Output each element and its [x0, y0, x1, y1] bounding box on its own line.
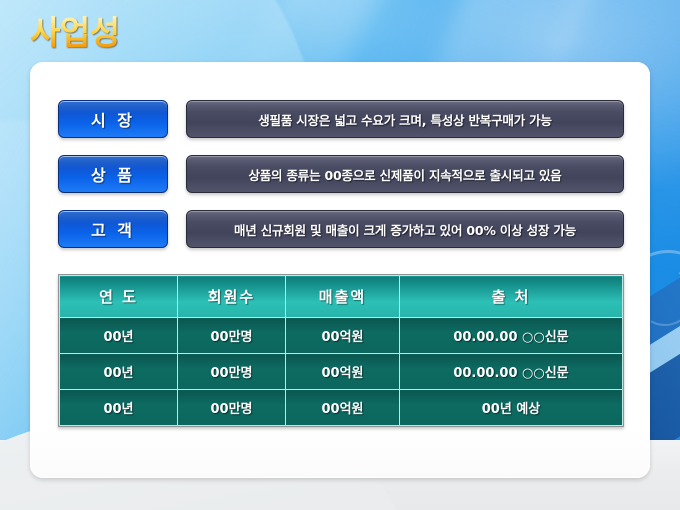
statement-label-text: 상 품: [91, 162, 135, 186]
table-header-revenue: 매출액: [286, 276, 400, 318]
statement-text-content: 상품의 종류는 00종으로 신제품이 지속적으로 출시되고 있음: [248, 165, 561, 184]
table-cell-year: 00년: [60, 354, 178, 390]
table-header-source: 출 처: [400, 276, 623, 318]
statement-text-content: 생필품 시장은 넓고 수요가 크며, 특성상 반복구매가 가능: [258, 110, 552, 129]
table-cell-members: 00만명: [178, 318, 286, 354]
statement-label-product[interactable]: 상 품: [58, 155, 168, 193]
statement-text-content: 매년 신규회원 및 매출이 크게 증가하고 있어 00% 이상 성장 가능: [234, 220, 576, 239]
table-cell-members: 00만명: [178, 390, 286, 426]
table-header: 연 도 회원수 매출액 출 처: [60, 276, 623, 318]
table-cell-members: 00만명: [178, 354, 286, 390]
statement-text-customer[interactable]: 매년 신규회원 및 매출이 크게 증가하고 있어 00% 이상 성장 가능: [186, 210, 624, 248]
table-cell-revenue: 00억원: [286, 390, 400, 426]
table-row: 00년 00만명 00억원 00년 예상: [60, 390, 623, 426]
statement-label-text: 고 객: [91, 217, 135, 241]
statement-row: 시 장 생필품 시장은 넓고 수요가 크며, 특성상 반복구매가 가능: [58, 100, 624, 138]
statement-row: 고 객 매년 신규회원 및 매출이 크게 증가하고 있어 00% 이상 성장 가…: [58, 210, 624, 248]
table-cell-source: 00년 예상: [400, 390, 623, 426]
table-header-year: 연 도: [60, 276, 178, 318]
table-cell-year: 00년: [60, 318, 178, 354]
table-cell-year: 00년: [60, 390, 178, 426]
statement-text-market[interactable]: 생필품 시장은 넓고 수요가 크며, 특성상 반복구매가 가능: [186, 100, 624, 138]
table-row: 00년 00만명 00억원 00.00.00 ○○신문: [60, 318, 623, 354]
slide: 사업성 시 장 생필품 시장은 넓고 수요가 크며, 특성상 반복구매가 가능 …: [0, 0, 680, 510]
page-title: 사업성: [30, 6, 120, 54]
statement-label-customer[interactable]: 고 객: [58, 210, 168, 248]
statement-label-text: 시 장: [91, 107, 135, 131]
table-cell-revenue: 00억원: [286, 354, 400, 390]
table-row: 00년 00만명 00억원 00.00.00 ○○신문: [60, 354, 623, 390]
table-cell-source: 00.00.00 ○○신문: [400, 318, 623, 354]
table-cell-source: 00.00.00 ○○신문: [400, 354, 623, 390]
statement-label-market[interactable]: 시 장: [58, 100, 168, 138]
table-header-row: 연 도 회원수 매출액 출 처: [60, 276, 623, 318]
data-table: 연 도 회원수 매출액 출 처 00년 00만명 00억원 00.00.00 ○…: [59, 275, 623, 426]
statement-text-product[interactable]: 상품의 종류는 00종으로 신제품이 지속적으로 출시되고 있음: [186, 155, 624, 193]
table-header-members: 회원수: [178, 276, 286, 318]
content-panel: 시 장 생필품 시장은 넓고 수요가 크며, 특성상 반복구매가 가능 상 품 …: [30, 62, 650, 478]
data-table-wrapper: 연 도 회원수 매출액 출 처 00년 00만명 00억원 00.00.00 ○…: [58, 274, 624, 427]
table-body: 00년 00만명 00억원 00.00.00 ○○신문 00년 00만명 00억…: [60, 318, 623, 426]
statement-list: 시 장 생필품 시장은 넓고 수요가 크며, 특성상 반복구매가 가능 상 품 …: [58, 100, 624, 265]
table-cell-revenue: 00억원: [286, 318, 400, 354]
statement-row: 상 품 상품의 종류는 00종으로 신제품이 지속적으로 출시되고 있음: [58, 155, 624, 193]
